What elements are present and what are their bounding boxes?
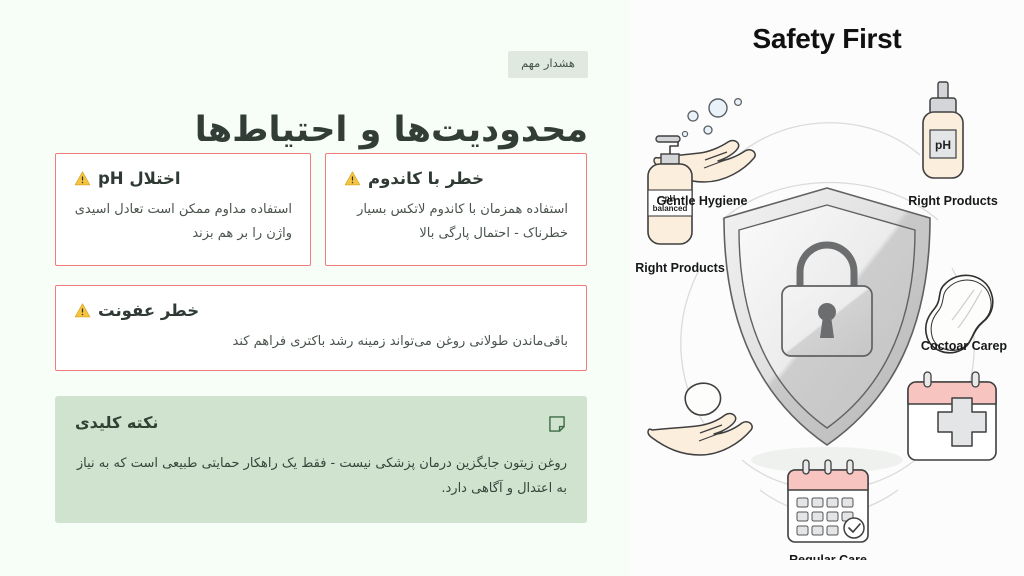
warning-triangle-icon [74, 302, 91, 319]
left-content-panel: هشدار مهم محدودیت‌ها و احتیاط‌ها اختلال … [0, 0, 630, 576]
key-note-box: نکته کلیدی روغن زیتون جایگزین درمان پزشک… [55, 396, 587, 523]
calendar-check-icon [788, 460, 868, 542]
card-body: استفاده همزمان با کاندوم لاتکس بسیار خطر… [344, 198, 568, 246]
shield-lock-icon [724, 188, 930, 473]
card-body: استفاده مداوم ممکن است تعادل اسیدی واژن … [74, 198, 292, 246]
label-coctoar-carep: Coctoar Carep [921, 339, 1007, 353]
card-title: خطر عفونت [98, 300, 199, 321]
card-header: خطر با کاندوم [344, 168, 568, 189]
warning-card-infection-risk: خطر عفونت باقی‌ماندن طولانی روغن می‌توان… [55, 285, 587, 371]
dropper-bottle-icon: pH [923, 82, 963, 178]
card-title: اختلال pH [98, 168, 181, 189]
warning-card-ph-disorder: اختلال pH استفاده مداوم ممکن است تعادل ا… [55, 153, 311, 266]
important-warning-badge: هشدار مهم [508, 51, 588, 78]
hand-with-cotton-icon [648, 383, 752, 455]
warning-card-condom-risk: خطر با کاندوم استفاده همزمان با کاندوم ل… [325, 153, 587, 266]
warning-triangle-icon [74, 170, 91, 187]
sticky-note-icon [547, 414, 567, 434]
label-gentle-hygiene: Gentle Hygiene [657, 194, 748, 208]
first-aid-calendar-icon [908, 372, 996, 460]
key-note-header: نکته کلیدی [75, 413, 567, 434]
key-note-title: نکته کلیدی [75, 413, 158, 432]
card-header: خطر عفونت [74, 300, 568, 321]
illustration-title: Safety First [630, 23, 1024, 55]
key-note-body: روغن زیتون جایگزین درمان پزشکی نیست - فق… [75, 451, 567, 502]
slide-root: هشدار مهم محدودیت‌ها و احتیاط‌ها اختلال … [0, 0, 1024, 576]
safety-illustration: pH pH balanced [630, 60, 1024, 560]
label-right-products-top: Right Products [908, 194, 998, 208]
svg-text:pH: pH [935, 138, 951, 152]
card-title: خطر با کاندوم [368, 168, 484, 189]
card-header: اختلال pH [74, 168, 292, 189]
page-title: محدودیت‌ها و احتیاط‌ها [195, 109, 588, 153]
right-illustration-panel: Safety First [630, 0, 1024, 576]
pump-bottle-icon: pH balanced [648, 136, 692, 244]
label-right-products-left: Right Products [635, 261, 725, 275]
label-regular-care: Regular Care [789, 553, 867, 560]
warning-triangle-icon [344, 170, 361, 187]
card-body: باقی‌ماندن طولانی روغن می‌تواند زمینه رش… [74, 330, 568, 354]
